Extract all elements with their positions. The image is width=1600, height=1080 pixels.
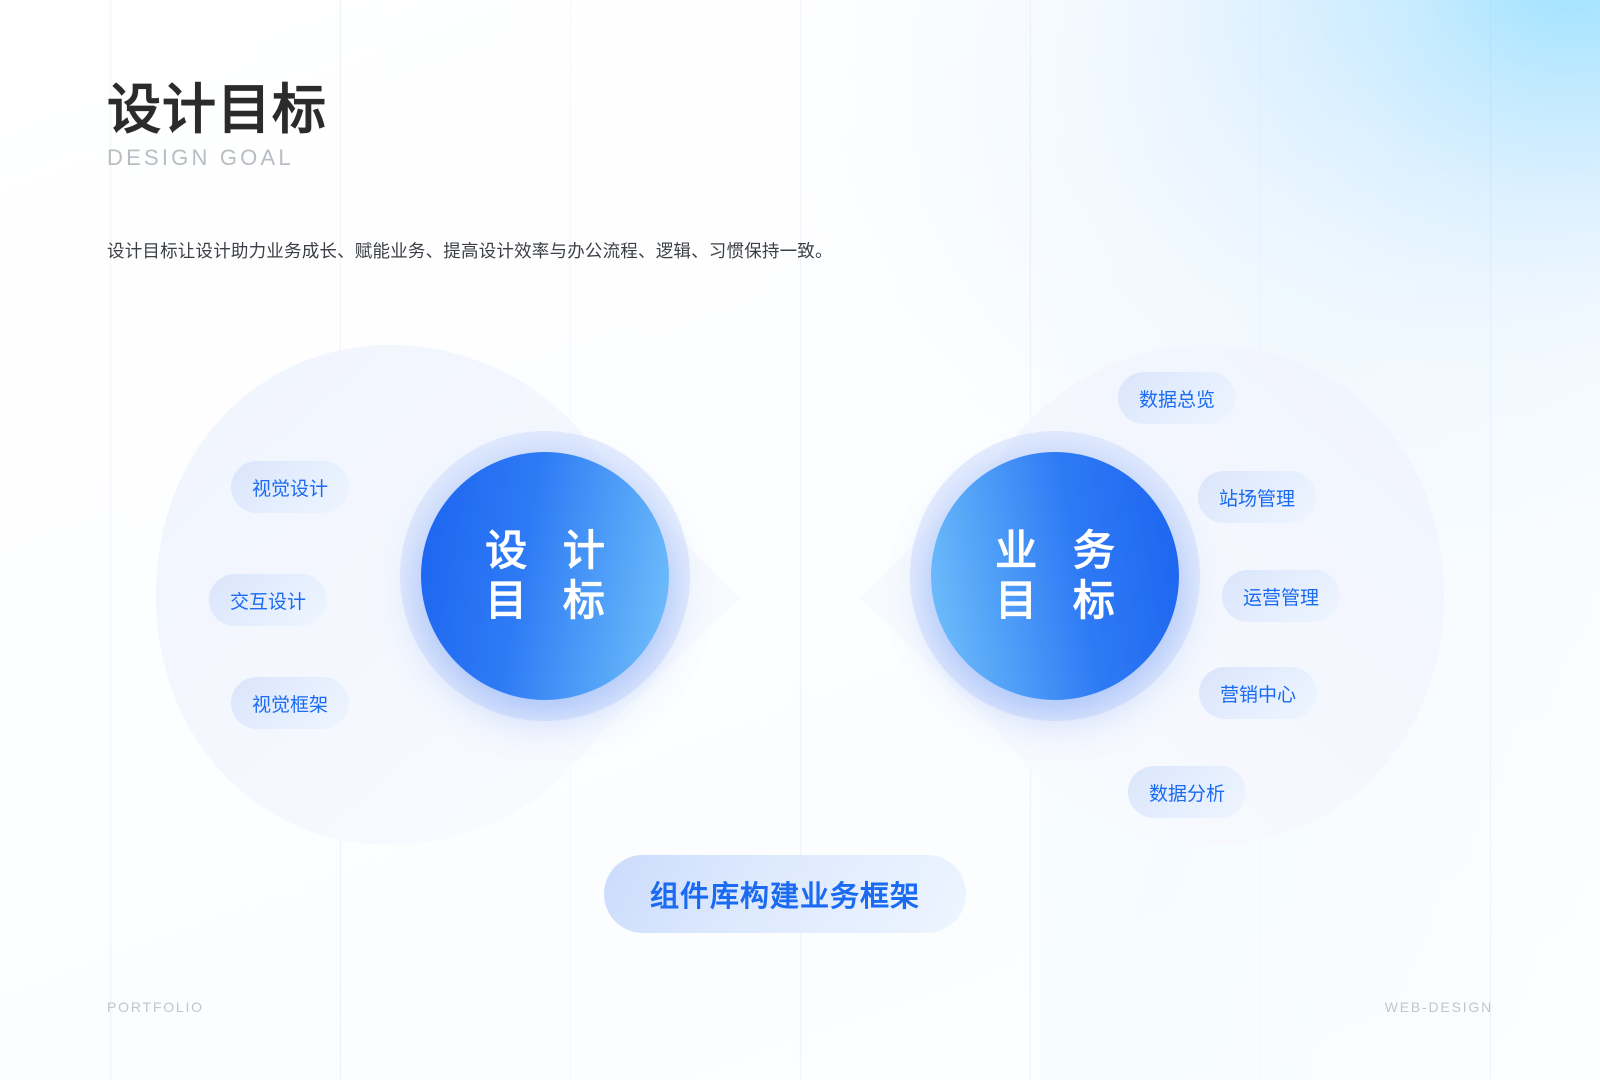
left-core-circle[interactable]: 设 计 目 标 <box>421 452 669 700</box>
pill-label: 运营管理 <box>1243 583 1319 610</box>
pill-component-library-framework[interactable]: 组件库构建业务框架 <box>604 855 966 933</box>
left-core-line2: 目 标 <box>473 576 617 626</box>
pill-marketing-center[interactable]: 营销中心 <box>1199 667 1317 719</box>
pill-label: 站场管理 <box>1219 484 1295 511</box>
pill-label: 组件库构建业务框架 <box>650 873 920 915</box>
right-core-line2: 目 标 <box>983 576 1127 626</box>
pill-label: 营销中心 <box>1220 680 1296 707</box>
right-core-line1: 业 务 <box>983 526 1127 576</box>
right-core-circle[interactable]: 业 务 目 标 <box>931 452 1179 700</box>
pill-station-management[interactable]: 站场管理 <box>1198 471 1316 523</box>
footer-right-label: WEB-DESIGN <box>1385 999 1493 1015</box>
design-goal-diagram: 设 计 目 标 业 务 目 标 视觉设计 交互设计 视觉框架 数据总览 站场管理… <box>0 0 1600 1080</box>
pill-visual-design[interactable]: 视觉设计 <box>231 461 349 513</box>
pill-data-analysis[interactable]: 数据分析 <box>1128 766 1246 818</box>
left-core-line1: 设 计 <box>473 526 617 576</box>
footer-left-label: PORTFOLIO <box>107 999 204 1015</box>
pill-visual-framework[interactable]: 视觉框架 <box>231 677 349 729</box>
pill-operations-management[interactable]: 运营管理 <box>1222 570 1340 622</box>
pill-label: 数据总览 <box>1139 385 1215 412</box>
pill-data-overview[interactable]: 数据总览 <box>1118 372 1236 424</box>
pill-interaction-design[interactable]: 交互设计 <box>209 574 327 626</box>
pill-label: 视觉框架 <box>252 690 328 717</box>
pill-label: 交互设计 <box>230 587 306 614</box>
pill-label: 视觉设计 <box>252 474 328 501</box>
pill-label: 数据分析 <box>1149 779 1225 806</box>
